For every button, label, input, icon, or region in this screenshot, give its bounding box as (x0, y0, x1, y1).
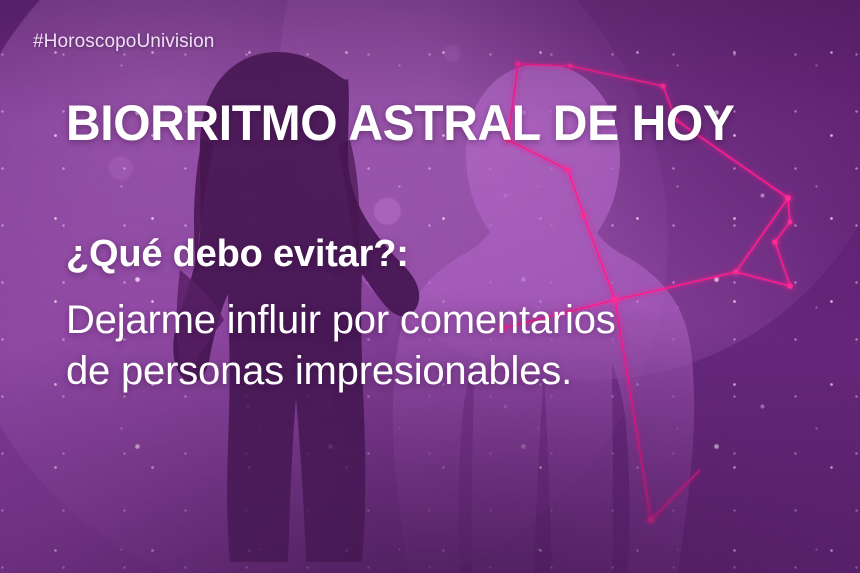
hashtag-label: #HoroscopoUnivision (33, 31, 214, 53)
question-label: ¿Qué debo evitar?: (66, 232, 409, 276)
horoscope-card: #HoroscopoUnivision BIORRITMO ASTRAL DE … (0, 0, 860, 573)
page-title: BIORRITMO ASTRAL DE HOY (66, 96, 735, 150)
answer-line-2: de personas impresionables. (66, 346, 616, 397)
bottom-vignette (0, 0, 860, 573)
answer-text: Dejarme influir por comentarios de perso… (66, 295, 616, 397)
answer-line-1: Dejarme influir por comentarios (66, 295, 616, 346)
